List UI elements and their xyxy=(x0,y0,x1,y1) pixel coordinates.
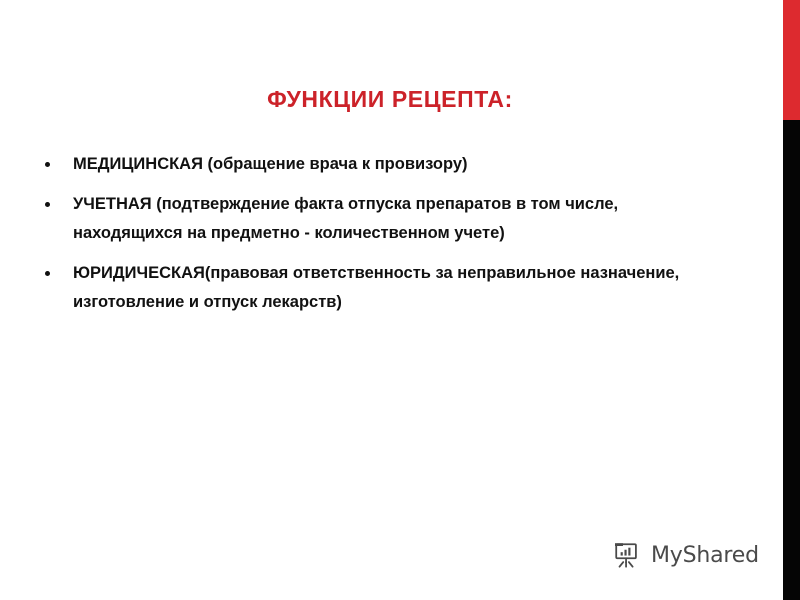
right-edge-accent-bar-black xyxy=(783,120,800,600)
list-item: ЮРИДИЧЕСКАЯ(правовая ответственность за … xyxy=(40,259,730,317)
bullet-point-icon xyxy=(45,162,50,167)
bullet-item-label: УЧЕТНАЯ (подтверждение факта отпуска пре… xyxy=(73,190,730,248)
bullet-item-label: ЮРИДИЧЕСКАЯ(правовая ответственность за … xyxy=(73,259,730,317)
slide-title: ФУНКЦИИ РЕЦЕПТА: xyxy=(60,86,720,112)
myshared-wordmark: MyShared xyxy=(651,543,759,568)
presentation-chart-icon xyxy=(612,540,642,570)
myshared-logo[interactable]: MyShared xyxy=(612,540,759,570)
bullet-list: МЕДИЦИНСКАЯ (обращение врача к провизору… xyxy=(40,150,730,328)
list-item: УЧЕТНАЯ (подтверждение факта отпуска пре… xyxy=(40,190,730,248)
bullet-point-icon xyxy=(45,271,50,276)
slide-canvas: ФУНКЦИИ РЕЦЕПТА: МЕДИЦИНСКАЯ (обращение … xyxy=(0,0,800,600)
bullet-point-icon xyxy=(45,202,50,207)
right-edge-accent-bar-red xyxy=(783,0,800,120)
bullet-item-label: МЕДИЦИНСКАЯ (обращение врача к провизору… xyxy=(73,150,730,179)
list-item: МЕДИЦИНСКАЯ (обращение врача к провизору… xyxy=(40,150,730,179)
